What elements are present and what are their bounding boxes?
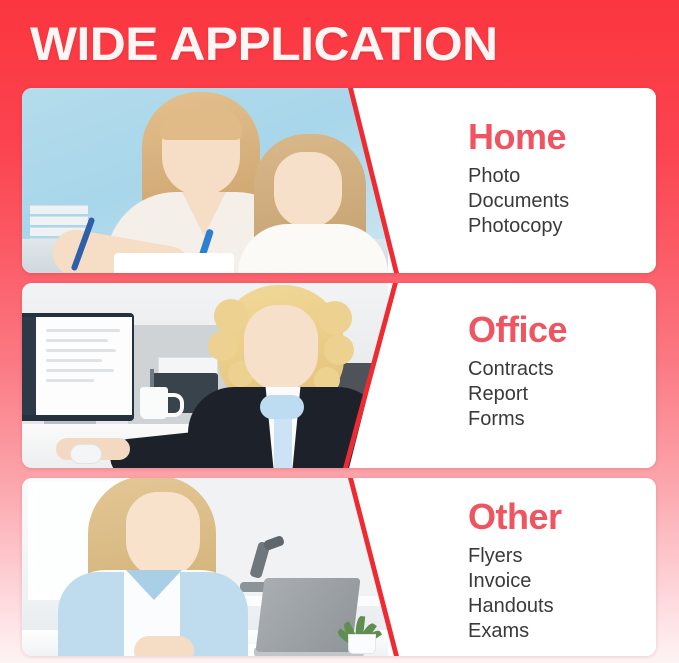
list-item: Report (468, 382, 554, 407)
card-text-pane: Office Contracts Report Forms (402, 283, 656, 468)
wide-application-poster: WIDE APPLICATION (0, 0, 679, 663)
card-text-pane: Other Flyers Invoice Handouts Exams (402, 478, 656, 656)
card-item-list: Flyers Invoice Handouts Exams (468, 544, 554, 644)
card-item-list: Contracts Report Forms (468, 357, 554, 432)
list-item: Photocopy (468, 214, 569, 239)
list-item: Flyers (468, 544, 554, 569)
application-card-office[interactable]: Office Contracts Report Forms (22, 283, 656, 468)
list-item: Documents (468, 189, 569, 214)
card-heading: Office (468, 311, 567, 349)
card-item-list: Photo Documents Photocopy (468, 164, 569, 239)
card-heading: Home (468, 118, 566, 156)
list-item: Contracts (468, 357, 554, 382)
page-title: WIDE APPLICATION (30, 19, 498, 69)
list-item: Photo (468, 164, 569, 189)
card-text-pane: Home Photo Documents Photocopy (402, 88, 656, 273)
card-heading: Other (468, 498, 562, 536)
list-item: Forms (468, 407, 554, 432)
list-item: Exams (468, 619, 554, 644)
office-worker-at-desk-photo (22, 283, 388, 468)
application-card-home[interactable]: Home Photo Documents Photocopy (22, 88, 656, 273)
application-card-other[interactable]: Other Flyers Invoice Handouts Exams (22, 478, 656, 656)
mother-and-daughter-writing-photo (22, 88, 388, 273)
woman-with-laptop-in-lab-photo (22, 478, 388, 656)
potted-plant-decor (340, 610, 380, 654)
list-item: Handouts (468, 594, 554, 619)
list-item: Invoice (468, 569, 554, 594)
